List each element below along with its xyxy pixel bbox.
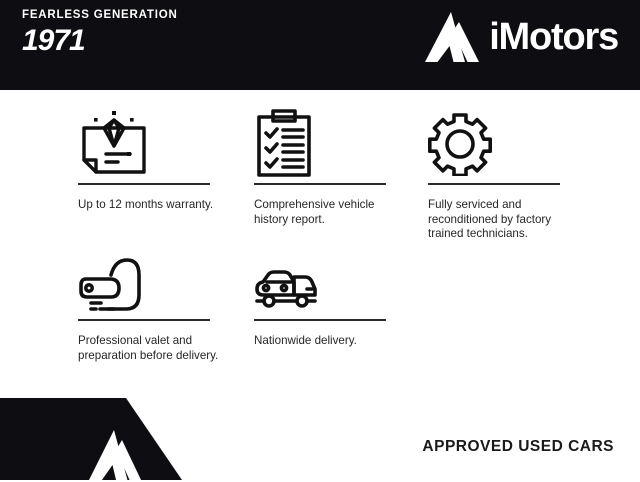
header-bar: FEARLESS GENERATION 1971 iMotors — [0, 0, 640, 90]
feature-grid: Up to 12 months warranty. — [0, 90, 640, 390]
feature-item-valet: Professional valet and preparation befor… — [78, 253, 228, 363]
warranty-certificate-icon — [78, 105, 228, 183]
footer-bar: APPROVED USED CARS — [0, 390, 640, 480]
feature-item-history-report: Comprehensive vehicle history report. — [254, 105, 404, 227]
vacuum-cleaner-icon — [78, 253, 228, 319]
feature-divider — [254, 183, 386, 185]
feature-caption: Nationwide delivery. — [254, 334, 404, 349]
clipboard-checklist-icon — [254, 105, 404, 183]
imotors-chevron-mark-icon — [44, 410, 98, 462]
promo-panel: FEARLESS GENERATION 1971 iMotors — [0, 0, 640, 480]
feature-caption: Fully serviced and reconditioned by fact… — [428, 198, 578, 242]
gear-icon — [428, 105, 578, 183]
feature-divider — [428, 183, 560, 185]
feature-caption: Up to 12 months warranty. — [78, 198, 228, 213]
imotors-logo: iMotors — [425, 12, 618, 62]
feature-divider — [78, 319, 210, 321]
imotors-chevron-mark-icon — [425, 12, 479, 62]
imotors-wordmark: iMotors — [489, 18, 618, 56]
feature-divider — [78, 183, 210, 185]
footer-tagline: APPROVED USED CARS — [422, 438, 614, 456]
feature-divider — [254, 319, 386, 321]
feature-item-serviced: Fully serviced and reconditioned by fact… — [428, 105, 578, 242]
feature-item-delivery: Nationwide delivery. — [254, 253, 404, 349]
feature-item-warranty: Up to 12 months warranty. — [78, 105, 228, 213]
car-transporter-truck-icon — [254, 253, 404, 319]
fearless-generation-lockup: FEARLESS GENERATION 1971 — [22, 10, 178, 56]
feature-caption: Professional valet and preparation befor… — [78, 334, 228, 363]
header-year: 1971 — [22, 26, 178, 56]
header-tagline: FEARLESS GENERATION — [22, 10, 178, 22]
feature-caption: Comprehensive vehicle history report. — [254, 198, 404, 227]
